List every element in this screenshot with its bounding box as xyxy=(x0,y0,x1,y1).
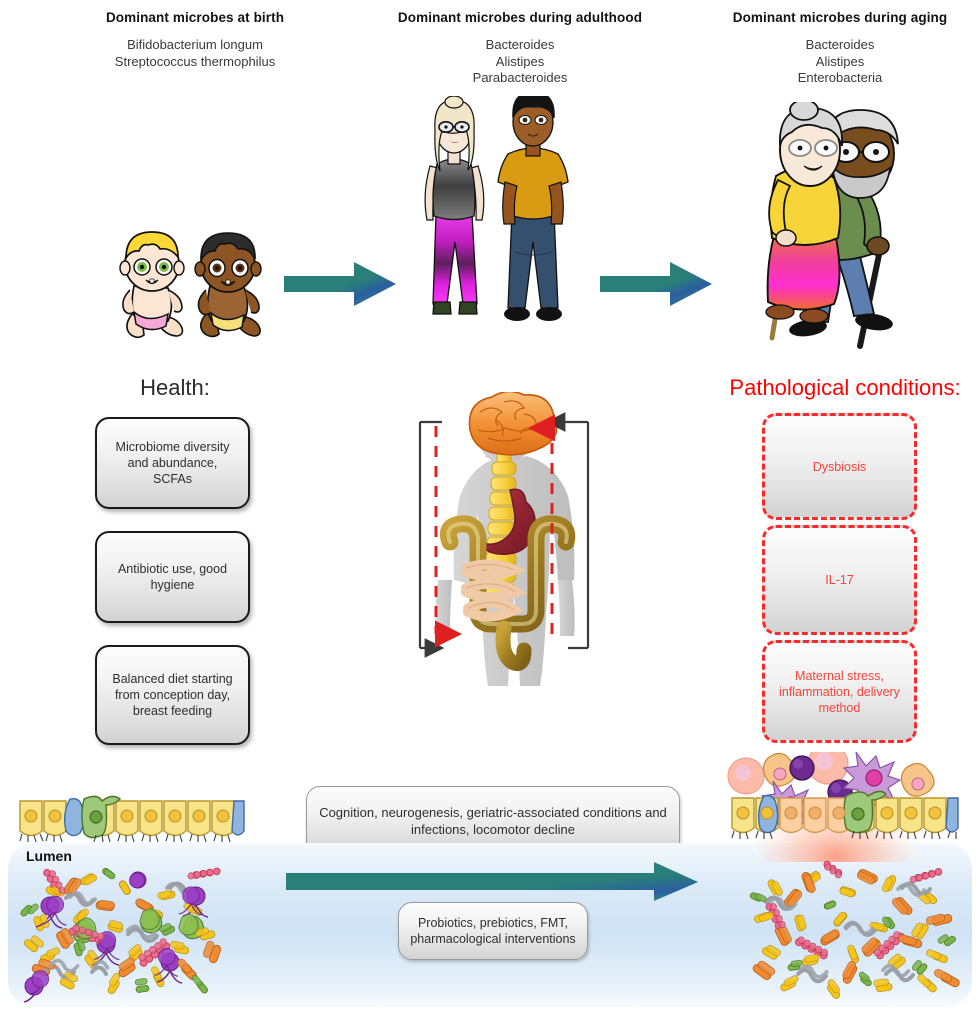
health-box-1-label: Microbiome diversity and abundance, SCFA… xyxy=(97,439,248,487)
interventions-box: Probiotics, prebiotics, FMT, pharmacolog… xyxy=(398,902,588,960)
pathological-box-2-label: IL-17 xyxy=(815,572,864,588)
column-species-adulthood: Bacteroides Alistipes Parabacteroides xyxy=(355,37,685,87)
health-box-3: Balanced diet starting from conception d… xyxy=(95,645,250,745)
elderly-illustration xyxy=(752,102,928,352)
column-heading-aging: Dominant microbes during aging xyxy=(705,10,975,25)
health-box-2: Antibiotic use, good hygiene xyxy=(95,531,250,623)
pathological-box-3-label: Maternal stress, inflammation, delivery … xyxy=(765,668,914,716)
species-line: Alistipes xyxy=(355,54,685,71)
species-line: Alistipes xyxy=(705,54,975,71)
figure-canvas: Dominant microbes at birth Bifidobacteri… xyxy=(0,0,980,1024)
infants-illustration xyxy=(112,228,272,350)
pathological-box-1: Dysbiosis xyxy=(762,413,917,520)
pathological-box-3: Maternal stress, inflammation, delivery … xyxy=(762,640,917,743)
pathological-box-1-label: Dysbiosis xyxy=(803,459,877,475)
species-line: Streptococcus thermophilus xyxy=(10,54,380,71)
health-box-3-label: Balanced diet starting from conception d… xyxy=(97,671,248,719)
inflammation-immune-cells xyxy=(724,752,974,862)
health-heading: Health: xyxy=(95,375,255,401)
gut-brain-axis-diagram xyxy=(392,392,618,748)
column-heading-birth: Dominant microbes at birth xyxy=(10,10,380,25)
species-line: Enterobacteria xyxy=(705,70,975,87)
column-heading-adulthood: Dominant microbes during adulthood xyxy=(355,10,685,25)
outcomes-box-label: Cognition, neurogenesis, geriatric-assoc… xyxy=(307,804,679,838)
species-line: Bacteroides xyxy=(705,37,975,54)
stage-arrow-adulthood-to-aging xyxy=(600,258,714,310)
healthy-microbiota-cluster xyxy=(10,858,250,1003)
column-species-birth: Bifidobacterium longum Streptococcus the… xyxy=(10,37,380,70)
adults-illustration xyxy=(412,96,588,348)
species-line: Bifidobacterium longum xyxy=(10,37,380,54)
dysbiotic-microbiota-cluster xyxy=(736,858,968,1003)
health-box-2-label: Antibiotic use, good hygiene xyxy=(97,561,248,593)
health-box-1: Microbiome diversity and abundance, SCFA… xyxy=(95,417,250,509)
column-species-aging: Bacteroides Alistipes Enterobacteria xyxy=(705,37,975,87)
pathological-heading: Pathological conditions: xyxy=(710,375,980,401)
species-line: Bacteroides xyxy=(355,37,685,54)
species-line: Parabacteroides xyxy=(355,70,685,87)
intervention-arrow xyxy=(286,862,700,902)
pathological-box-2: IL-17 xyxy=(762,525,917,635)
healthy-epithelium xyxy=(12,795,246,855)
interventions-box-label: Probiotics, prebiotics, FMT, pharmacolog… xyxy=(399,915,587,947)
stage-arrow-birth-to-adulthood xyxy=(284,258,398,310)
